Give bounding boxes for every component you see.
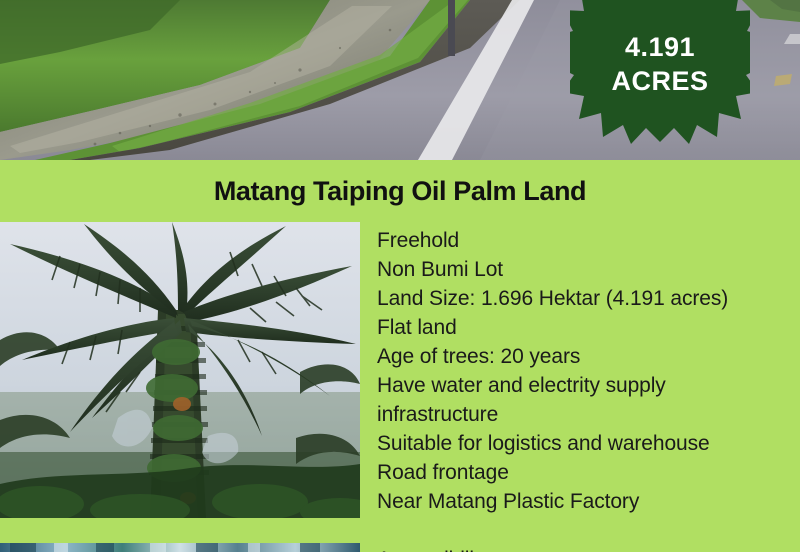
bottom-photo — [0, 543, 360, 552]
page-title: Matang Taiping Oil Palm Land — [214, 176, 586, 207]
detail-line: Near Matang Plastic Factory — [377, 487, 792, 516]
detail-line: Freehold — [377, 226, 792, 255]
starburst-shape — [570, 0, 750, 144]
property-listing-poster: 4.191 ACRES Matang Taiping Oil Palm Land — [0, 0, 800, 552]
detail-line: Road frontage — [377, 458, 792, 487]
detail-line: Non Bumi Lot — [377, 255, 792, 284]
property-details-list: Freehold Non Bumi Lot Land Size: 1.696 H… — [377, 226, 792, 552]
detail-line: Land Size: 1.696 Hektar (4.191 acres) — [377, 284, 792, 313]
acres-badge: 4.191 ACRES — [570, 0, 750, 144]
detail-line: Have water and electrity supply — [377, 371, 792, 400]
accessibility-heading: Accessibility: — [377, 545, 792, 552]
title-bar: Matang Taiping Oil Palm Land — [0, 160, 800, 222]
detail-line: Age of trees: 20 years — [377, 342, 792, 371]
detail-line: infrastructure — [377, 400, 792, 429]
detail-line: Suitable for logistics and warehouse — [377, 429, 792, 458]
detail-line: Flat land — [377, 313, 792, 342]
oil-palm-tree-photo — [0, 222, 360, 518]
detail-spacer — [377, 516, 792, 545]
